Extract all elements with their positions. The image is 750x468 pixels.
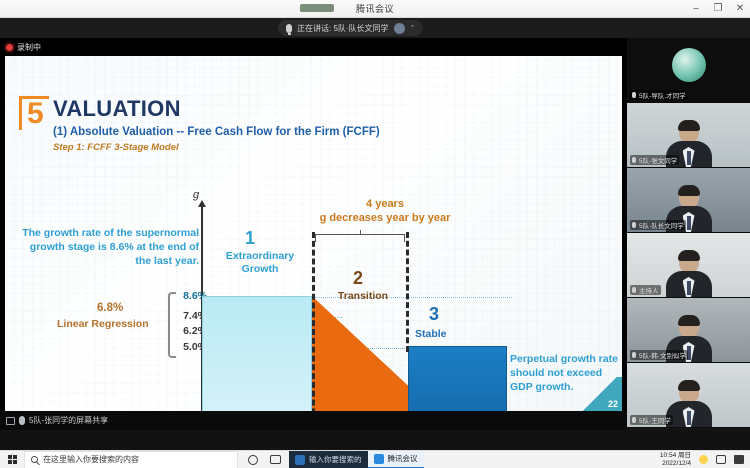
windows-logo-icon xyxy=(8,455,17,464)
video-tile[interactable]: 5队-队长文同学 xyxy=(627,168,750,233)
microphone-icon xyxy=(632,157,636,163)
search-placeholder: 在这里输入你要搜索的内容 xyxy=(43,454,139,465)
app-icon xyxy=(374,454,384,464)
avatar-head xyxy=(679,251,699,273)
start-button[interactable] xyxy=(0,451,24,468)
participant-name-tag: 主持人 xyxy=(630,285,661,295)
minimize-icon[interactable]: – xyxy=(690,1,702,17)
recording-label: 录制中 xyxy=(17,42,41,53)
system-tray[interactable]: 10:54 周日 2022/12/4 xyxy=(660,452,750,468)
bar-stage-stable xyxy=(408,346,507,411)
taskbar-app-item[interactable]: 腾讯会议 xyxy=(368,451,424,468)
taskbar-app-item[interactable]: 输入你要搜索的 xyxy=(289,451,368,468)
slide-step-label: Step 1: FCFF 3-Stage Model xyxy=(53,142,179,153)
participant-name-tag: 5队-韩·文别似学 xyxy=(630,350,688,360)
participant-name-tag: 5队-导队.才同学 xyxy=(630,90,688,100)
window-title: 腾讯会议 xyxy=(0,2,750,15)
slide-page-corner: 22 xyxy=(578,377,622,411)
microphone-icon xyxy=(286,24,292,33)
slide-subtitle: (1) Absolute Valuation -- Free Cash Flow… xyxy=(53,126,380,138)
transition-span-bracket xyxy=(315,234,405,242)
action-center-icon[interactable] xyxy=(734,455,744,464)
stage-3-label: Stable xyxy=(415,328,447,340)
screen-share-status-bar: 5队-张同学的屏幕共享 xyxy=(0,411,627,430)
divider-2025 xyxy=(312,232,315,411)
participant-video-rail[interactable]: 5队-导队.才同学 5队-张文同学 xyxy=(627,38,750,430)
taskbar-clock[interactable]: 10:54 周日 2022/12/4 xyxy=(660,452,691,468)
stage-1-label: Extraordinary Growth xyxy=(215,250,305,276)
windows-taskbar: 在这里输入你要搜索的内容 输入你要搜索的 腾讯会议 10:54 周日 2022/… xyxy=(0,450,750,468)
participant-name: 5队-队长文同学 xyxy=(639,220,684,230)
meeting-top-bar: 正在讲话: 5队·队长文同学 ⌃ xyxy=(0,18,750,38)
participant-name: 5队-王同学 xyxy=(639,415,671,425)
close-icon[interactable]: ✕ xyxy=(734,1,746,17)
search-icon xyxy=(31,456,38,463)
video-tile[interactable]: 5队-导队.才同学 xyxy=(627,38,750,103)
participant-name-tag: 5队-张文同学 xyxy=(630,155,679,165)
taskbar-app-label: 腾讯会议 xyxy=(388,453,418,464)
transition-note-label: g decreases year by year xyxy=(267,212,503,224)
slide-title: VALUATION xyxy=(53,96,181,122)
bar-stage-transition xyxy=(312,296,408,411)
taskbar-system-icons[interactable] xyxy=(248,455,281,465)
avatar-hair xyxy=(678,380,700,391)
video-tile[interactable]: 5队-韩·文别似学 xyxy=(627,298,750,363)
avatar-tie xyxy=(687,411,691,425)
microphone-icon xyxy=(632,352,636,358)
avatar-hair xyxy=(678,185,700,196)
microphone-icon xyxy=(632,417,636,423)
y-axis-label: g xyxy=(193,189,199,201)
app-icon xyxy=(295,455,305,465)
presentation-slide: 5 VALUATION (1) Absolute Valuation -- Fr… xyxy=(5,56,622,411)
active-speaker-label: 正在讲话: 5队·队长文同学 xyxy=(297,23,389,34)
stage-2-number: 2 xyxy=(353,268,363,289)
clock-date: 2022/12/4 xyxy=(660,460,691,468)
clock-time: 10:54 周日 xyxy=(660,452,691,460)
stage-1-number: 1 xyxy=(245,228,255,249)
avatar-hair xyxy=(678,120,700,131)
screen-share-icon xyxy=(6,417,15,425)
video-tile[interactable]: 主持人 xyxy=(627,233,750,298)
slide-section-number: 5 xyxy=(19,96,49,130)
participant-name: 5队-韩·文别似学 xyxy=(639,350,686,360)
avatar-hair xyxy=(678,250,700,261)
window-titlebar: 腾讯会议 – ❐ ✕ xyxy=(0,0,750,18)
taskbar-app-label: 输入你要搜索的 xyxy=(309,454,362,465)
avatar-head xyxy=(679,186,699,208)
record-dot-icon xyxy=(6,44,13,51)
participant-name-tag: 5队-王同学 xyxy=(630,415,673,425)
slide-page-number: 22 xyxy=(608,399,618,409)
avatar xyxy=(672,48,706,82)
linear-regression-value: 6.8% xyxy=(97,302,123,314)
cortana-icon[interactable] xyxy=(248,455,258,465)
participant-name: 主持人 xyxy=(639,285,659,295)
avatar-hair xyxy=(678,315,700,326)
video-tile[interactable]: 5队-张文同学 xyxy=(627,103,750,168)
transition-years-label: 4 years xyxy=(305,198,465,210)
slide-section-number-text: 5 xyxy=(27,99,44,129)
avatar-head xyxy=(679,316,699,338)
avatar xyxy=(394,23,405,34)
microphone-icon xyxy=(632,287,636,293)
meeting-window: 正在讲话: 5队·队长文同学 ⌃ 录制中 5 VALUATION (1) Abs… xyxy=(0,18,750,450)
task-view-icon[interactable] xyxy=(270,455,281,464)
recording-indicator: 录制中 xyxy=(6,42,41,53)
avatar xyxy=(666,251,712,297)
weather-icon[interactable] xyxy=(699,455,708,464)
avatar-tie xyxy=(687,281,691,295)
participant-name: 5队-导队.才同学 xyxy=(639,90,686,100)
chevron-down-icon[interactable]: ⌃ xyxy=(410,24,416,32)
bar-stage-extraordinary xyxy=(202,296,312,411)
search-input[interactable]: 在这里输入你要搜索的内容 xyxy=(24,451,238,468)
divider-2028 xyxy=(406,232,409,352)
video-tile[interactable]: 5队-王同学 xyxy=(627,363,750,428)
participant-name-tag: 5队-队长文同学 xyxy=(630,220,686,230)
stage-3-number: 3 xyxy=(429,304,439,325)
linear-regression-label: Linear Regression xyxy=(57,318,149,330)
avatar-head xyxy=(679,121,699,143)
notifications-icon[interactable] xyxy=(716,455,726,464)
window-controls[interactable]: – ❐ ✕ xyxy=(690,1,746,17)
annotation-supernormal-growth: The growth rate of the supernormal growt… xyxy=(19,226,199,268)
desktop-root: 腾讯会议 – ❐ ✕ 正在讲话: 5队·队长文同学 ⌃ 录制中 xyxy=(0,0,750,468)
active-speaker-chip[interactable]: 正在讲话: 5队·队长文同学 ⌃ xyxy=(278,20,423,36)
stage-2-label: Transition xyxy=(323,290,403,302)
shared-screen-stage: 录制中 5 VALUATION (1) Absolute Valuation -… xyxy=(0,38,627,430)
screen-share-label: 5队-张同学的屏幕共享 xyxy=(29,415,108,426)
microphone-icon xyxy=(19,416,25,425)
microphone-icon xyxy=(632,222,636,228)
participant-name: 5队-张文同学 xyxy=(639,155,677,165)
avatar-head xyxy=(679,381,699,403)
avatar-tie xyxy=(687,151,691,165)
avatar-tie xyxy=(687,216,691,230)
microphone-icon xyxy=(632,92,636,98)
avatar-body xyxy=(666,271,712,297)
maximize-icon[interactable]: ❐ xyxy=(712,1,724,17)
